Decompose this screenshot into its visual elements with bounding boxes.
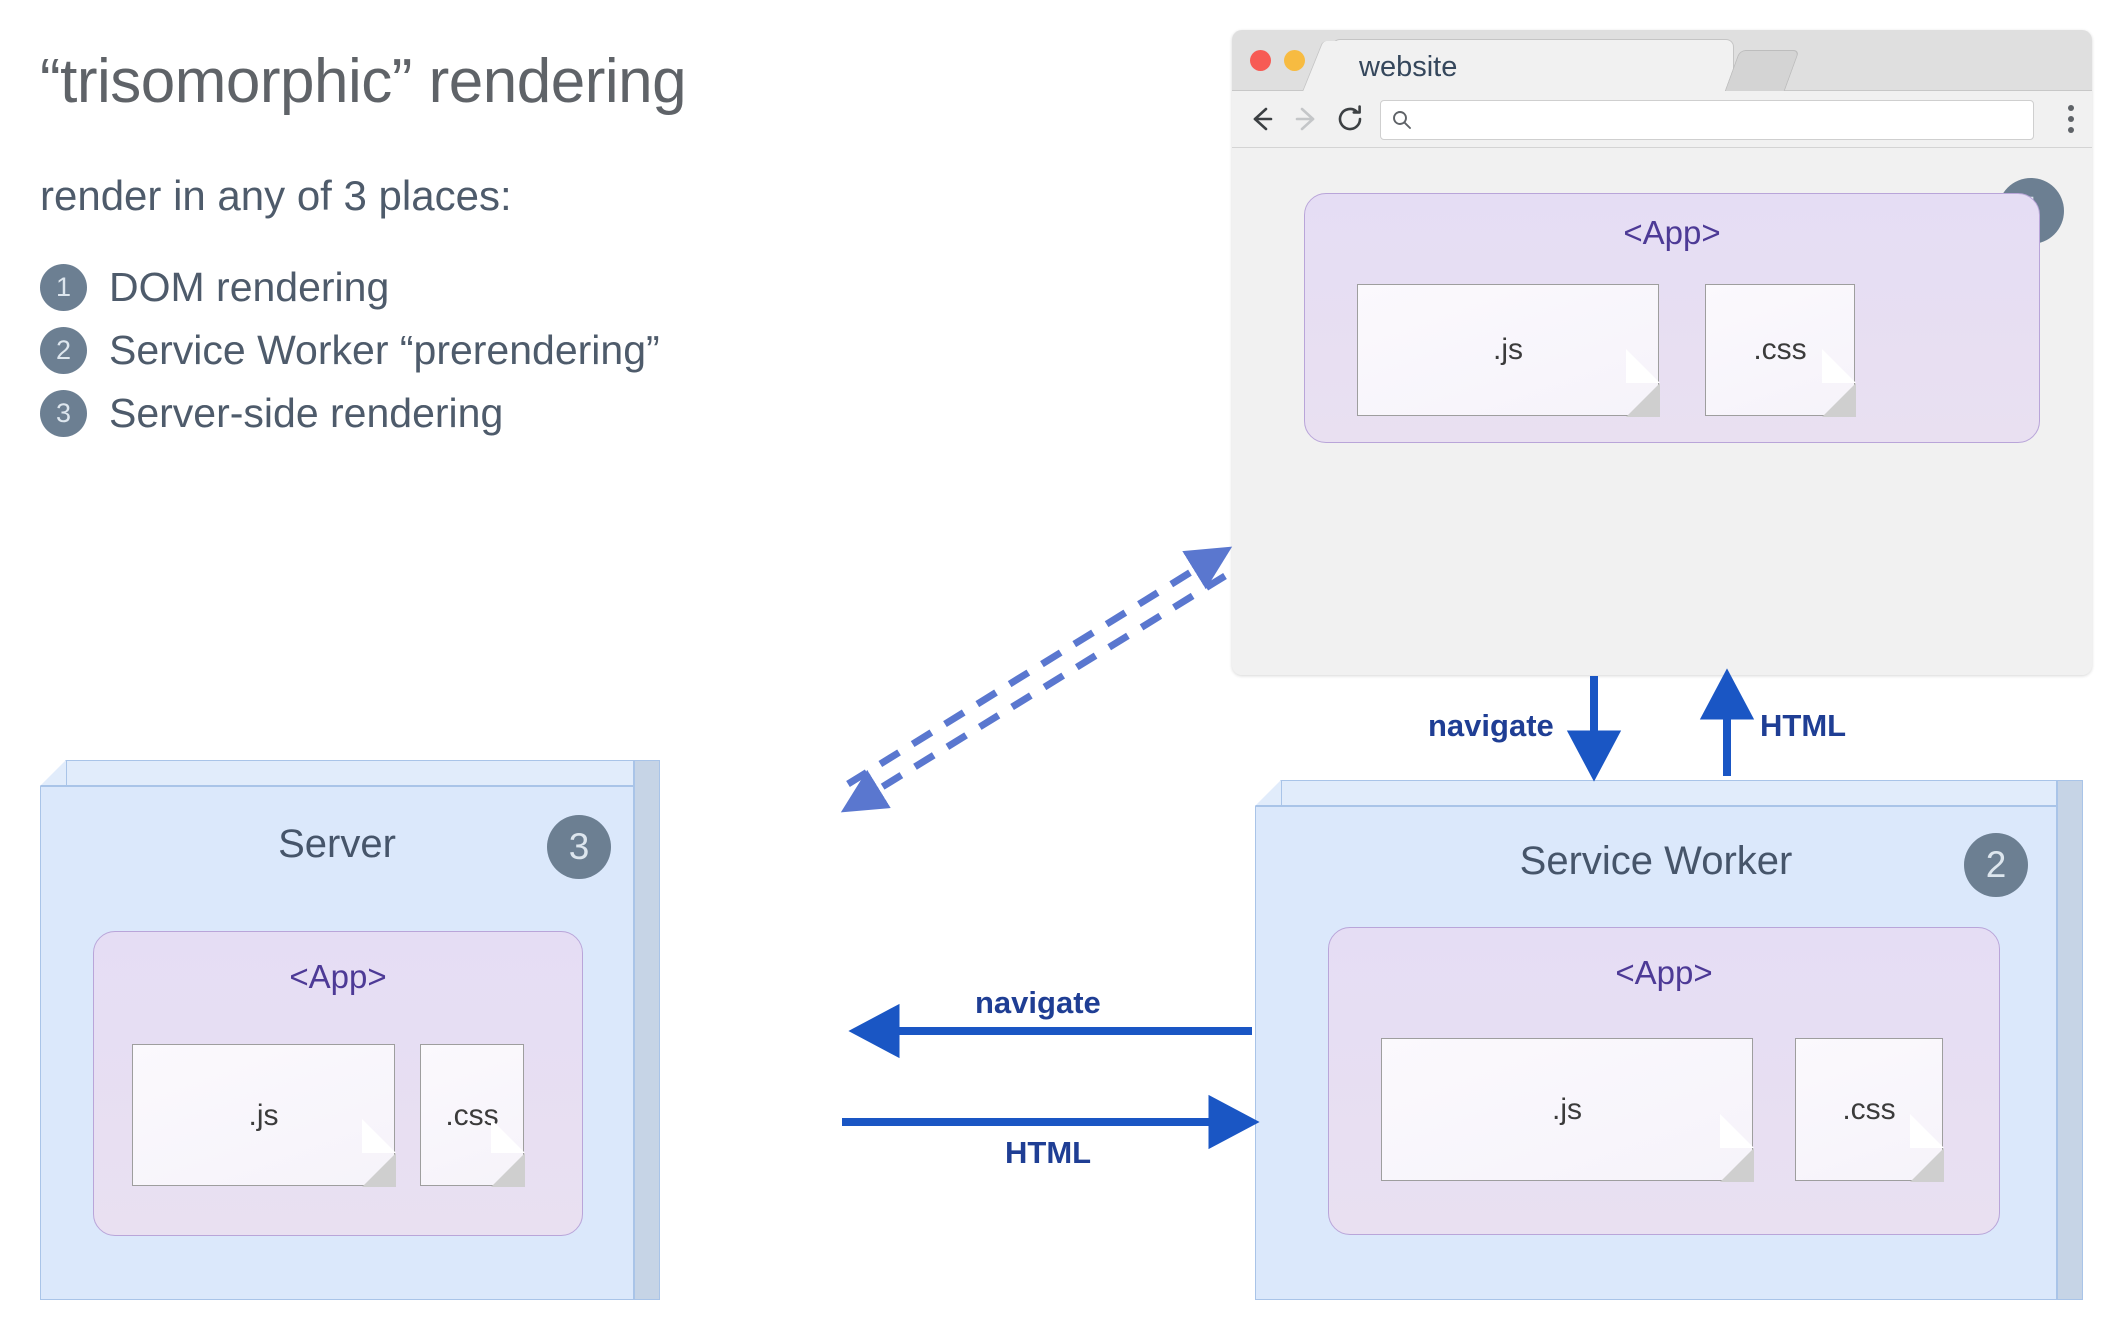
subtitle: render in any of 3 places: — [40, 172, 900, 220]
arrow-server-to-browser-dashed — [848, 551, 1225, 784]
file-card-css: .css — [1705, 284, 1855, 416]
file-card-label: .js — [1382, 1093, 1752, 1127]
server-box-top-bevel — [40, 760, 66, 786]
url-input[interactable] — [1380, 100, 2034, 140]
browser-tab-website[interactable]: website — [1332, 39, 1734, 92]
browser-tab-inactive[interactable] — [1724, 50, 1799, 92]
intro-text-column: “trisomorphic” rendering render in any o… — [40, 48, 900, 453]
list-item-label: Service Worker “prerendering” — [109, 328, 660, 373]
page-fold-corner-icon — [491, 1153, 525, 1187]
sw-box-right-face — [2057, 780, 2083, 1300]
list-item-server-side-rendering: 3 Server-side rendering — [40, 390, 900, 437]
arrow-label-navigate-vertical: navigate — [1428, 708, 1554, 744]
file-card-label: .js — [133, 1099, 394, 1133]
sw-app-box: <App> .js .css — [1328, 927, 2000, 1235]
kebab-menu-icon[interactable] — [2068, 105, 2074, 133]
server-box-right-face — [634, 760, 660, 1300]
sw-box-top-bevel — [1255, 780, 1281, 806]
browser-tab-title: website — [1359, 51, 1457, 84]
step-badge-2: 2 — [1964, 833, 2028, 897]
browser-window: website — [1232, 30, 2092, 675]
page-title: “trisomorphic” rendering — [40, 48, 900, 116]
page-fold-corner-icon — [1626, 383, 1660, 417]
file-card-css: .css — [420, 1044, 524, 1186]
sw-box-front-face: Service Worker 2 <App> .js .css — [1255, 806, 2057, 1300]
file-card-label: .js — [1358, 333, 1658, 367]
reload-icon[interactable] — [1334, 103, 1366, 135]
server-box-top-face — [66, 760, 634, 786]
list-item-label: DOM rendering — [109, 265, 389, 310]
server-box-front-face: Server 3 <App> .js .css — [40, 786, 634, 1300]
page-fold-corner-icon — [1720, 1148, 1754, 1182]
arrow-label-navigate-horizontal: navigate — [975, 985, 1101, 1021]
app-label: <App> — [1329, 954, 1999, 992]
back-arrow-icon[interactable] — [1246, 103, 1278, 135]
file-card-css: .css — [1795, 1038, 1943, 1181]
forward-arrow-icon[interactable] — [1290, 103, 1322, 135]
browser-tab-bar: website — [1232, 30, 2092, 91]
server-box: Server 3 <App> .js .css — [40, 760, 660, 1300]
server-title: Server — [41, 822, 633, 867]
browser-app-box: <App> .js .css — [1304, 193, 2040, 443]
file-card-js: .js — [1357, 284, 1659, 416]
close-window-icon[interactable] — [1250, 50, 1271, 71]
page-fold-corner-icon — [1822, 383, 1856, 417]
app-label: <App> — [1305, 214, 2039, 252]
search-icon — [1391, 109, 1413, 131]
page-fold-corner-icon — [362, 1153, 396, 1187]
file-card-js: .js — [132, 1044, 395, 1186]
server-app-box: <App> .js .css — [93, 931, 583, 1236]
page-fold-corner-icon — [1910, 1148, 1944, 1182]
app-label: <App> — [94, 958, 582, 996]
list-badge-2: 2 — [40, 327, 87, 374]
file-card-js: .js — [1381, 1038, 1753, 1181]
list-item-dom-rendering: 1 DOM rendering — [40, 264, 900, 311]
list-badge-1: 1 — [40, 264, 87, 311]
list-item-label: Server-side rendering — [109, 391, 503, 436]
step-badge-3: 3 — [547, 815, 611, 879]
list-badge-3: 3 — [40, 390, 87, 437]
list-item-service-worker-prerendering: 2 Service Worker “prerendering” — [40, 327, 900, 374]
browser-viewport: 1 <App> .js .css — [1232, 148, 2092, 675]
sw-box-top-face — [1281, 780, 2057, 806]
service-worker-box: Service Worker 2 <App> .js .css — [1255, 780, 2083, 1300]
arrow-label-html-vertical: HTML — [1760, 708, 1846, 744]
arrow-browser-to-server-dashed — [848, 576, 1225, 808]
browser-toolbar — [1232, 91, 2092, 148]
minimize-window-icon[interactable] — [1284, 50, 1305, 71]
arrow-label-html-horizontal: HTML — [1005, 1135, 1091, 1171]
service-worker-title: Service Worker — [1256, 839, 2056, 884]
